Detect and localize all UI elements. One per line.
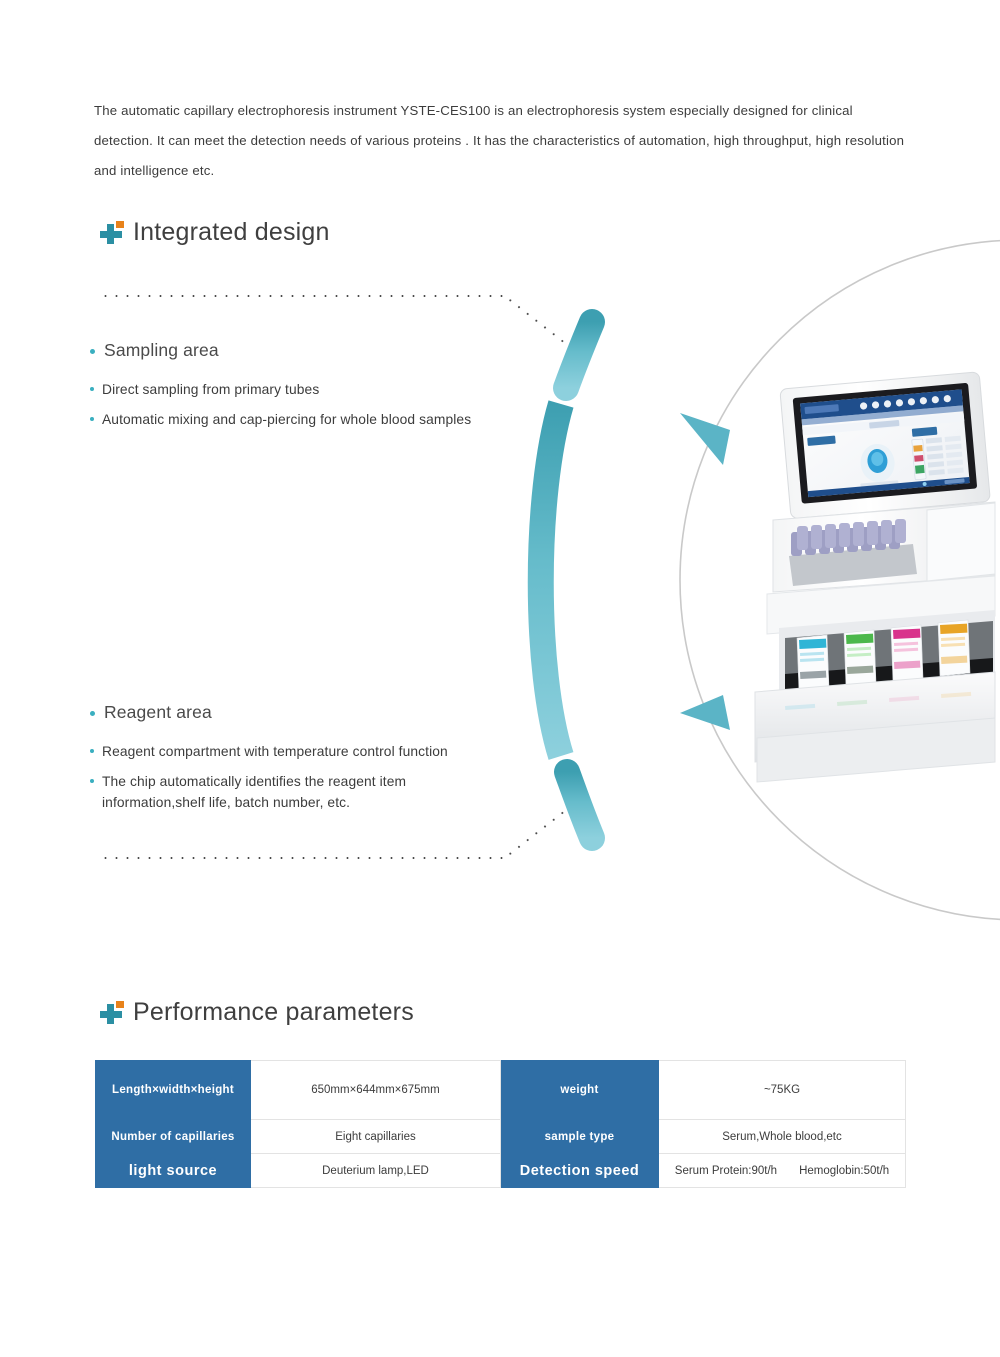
section-heading-label: Performance parameters bbox=[133, 998, 414, 1027]
feature-block-reagent-area: Reagent area Reagent compartment with te… bbox=[90, 702, 520, 822]
curved-bracket-decoration bbox=[520, 300, 630, 860]
feature-bullet-list: Direct sampling from primary tubes Autom… bbox=[90, 379, 520, 430]
row-value-sample-type: Serum,Whole blood,etc bbox=[659, 1120, 906, 1154]
table-row: Number of capillaries Eight capillaries … bbox=[96, 1120, 906, 1154]
section-heading-performance-parameters: Performance parameters bbox=[100, 998, 414, 1027]
section-heading-label: Integrated design bbox=[133, 218, 330, 247]
feature-title-label: Reagent area bbox=[104, 702, 212, 723]
list-item: Automatic mixing and cap-piercing for wh… bbox=[90, 409, 520, 430]
feature-title: Sampling area bbox=[90, 340, 520, 361]
row-label-capillaries: Number of capillaries bbox=[96, 1120, 251, 1154]
list-item-label: The chip automatically identifies the re… bbox=[102, 771, 502, 813]
bullet-dot-icon bbox=[90, 387, 94, 391]
row-value-dimensions: 650mm×644mm×675mm bbox=[251, 1061, 501, 1120]
list-item-label: Automatic mixing and cap-piercing for wh… bbox=[102, 409, 471, 430]
bullet-dot-icon bbox=[90, 711, 95, 716]
bullet-dot-icon bbox=[90, 749, 94, 753]
product-photo bbox=[745, 370, 1000, 800]
dotted-guide-line-bottom bbox=[100, 857, 508, 859]
row-value-detection-speed: Serum Protein:90t/hHemoglobin:50t/h bbox=[659, 1154, 906, 1188]
detection-speed-serum: Serum Protein:90t/h bbox=[675, 1165, 777, 1177]
plus-cross-icon bbox=[100, 222, 122, 244]
list-item: The chip automatically identifies the re… bbox=[90, 771, 520, 813]
list-item-label: Reagent compartment with temperature con… bbox=[102, 741, 448, 762]
bullet-dot-icon bbox=[90, 779, 94, 783]
row-value-capillaries: Eight capillaries bbox=[251, 1120, 501, 1154]
intro-paragraph: The automatic capillary electrophoresis … bbox=[94, 96, 906, 186]
row-label-dimensions: Length×width×height bbox=[96, 1061, 251, 1120]
feature-title-label: Sampling area bbox=[104, 340, 219, 361]
dotted-guide-line-top bbox=[100, 295, 508, 297]
bullet-dot-icon bbox=[90, 417, 94, 421]
list-item: Direct sampling from primary tubes bbox=[90, 379, 520, 400]
feature-bullet-list: Reagent compartment with temperature con… bbox=[90, 741, 520, 813]
detection-speed-hemoglobin: Hemoglobin:50t/h bbox=[799, 1165, 889, 1177]
row-label-detection-speed: Detection speed bbox=[501, 1154, 659, 1188]
row-label-weight: weight bbox=[501, 1061, 659, 1120]
table-row: Length×width×height 650mm×644mm×675mm we… bbox=[96, 1061, 906, 1120]
feature-block-sampling-area: Sampling area Direct sampling from prima… bbox=[90, 340, 520, 439]
performance-parameters-table: Length×width×height 650mm×644mm×675mm we… bbox=[95, 1060, 906, 1188]
section-heading-integrated-design: Integrated design bbox=[100, 218, 330, 247]
row-value-light-source: Deuterium lamp,LED bbox=[251, 1154, 501, 1188]
triangle-pointer-top bbox=[680, 413, 730, 465]
list-item: Reagent compartment with temperature con… bbox=[90, 741, 520, 762]
row-value-weight: ~75KG bbox=[659, 1061, 906, 1120]
feature-title: Reagent area bbox=[90, 702, 520, 723]
triangle-pointer-bottom bbox=[680, 695, 730, 730]
row-label-light-source: light source bbox=[96, 1154, 251, 1188]
table-row: light source Deuterium lamp,LED Detectio… bbox=[96, 1154, 906, 1188]
bullet-dot-icon bbox=[90, 349, 95, 354]
row-label-sample-type: sample type bbox=[501, 1120, 659, 1154]
brochure-page: The automatic capillary electrophoresis … bbox=[0, 0, 1000, 1357]
list-item-label: Direct sampling from primary tubes bbox=[102, 379, 319, 400]
plus-cross-icon bbox=[100, 1002, 122, 1024]
